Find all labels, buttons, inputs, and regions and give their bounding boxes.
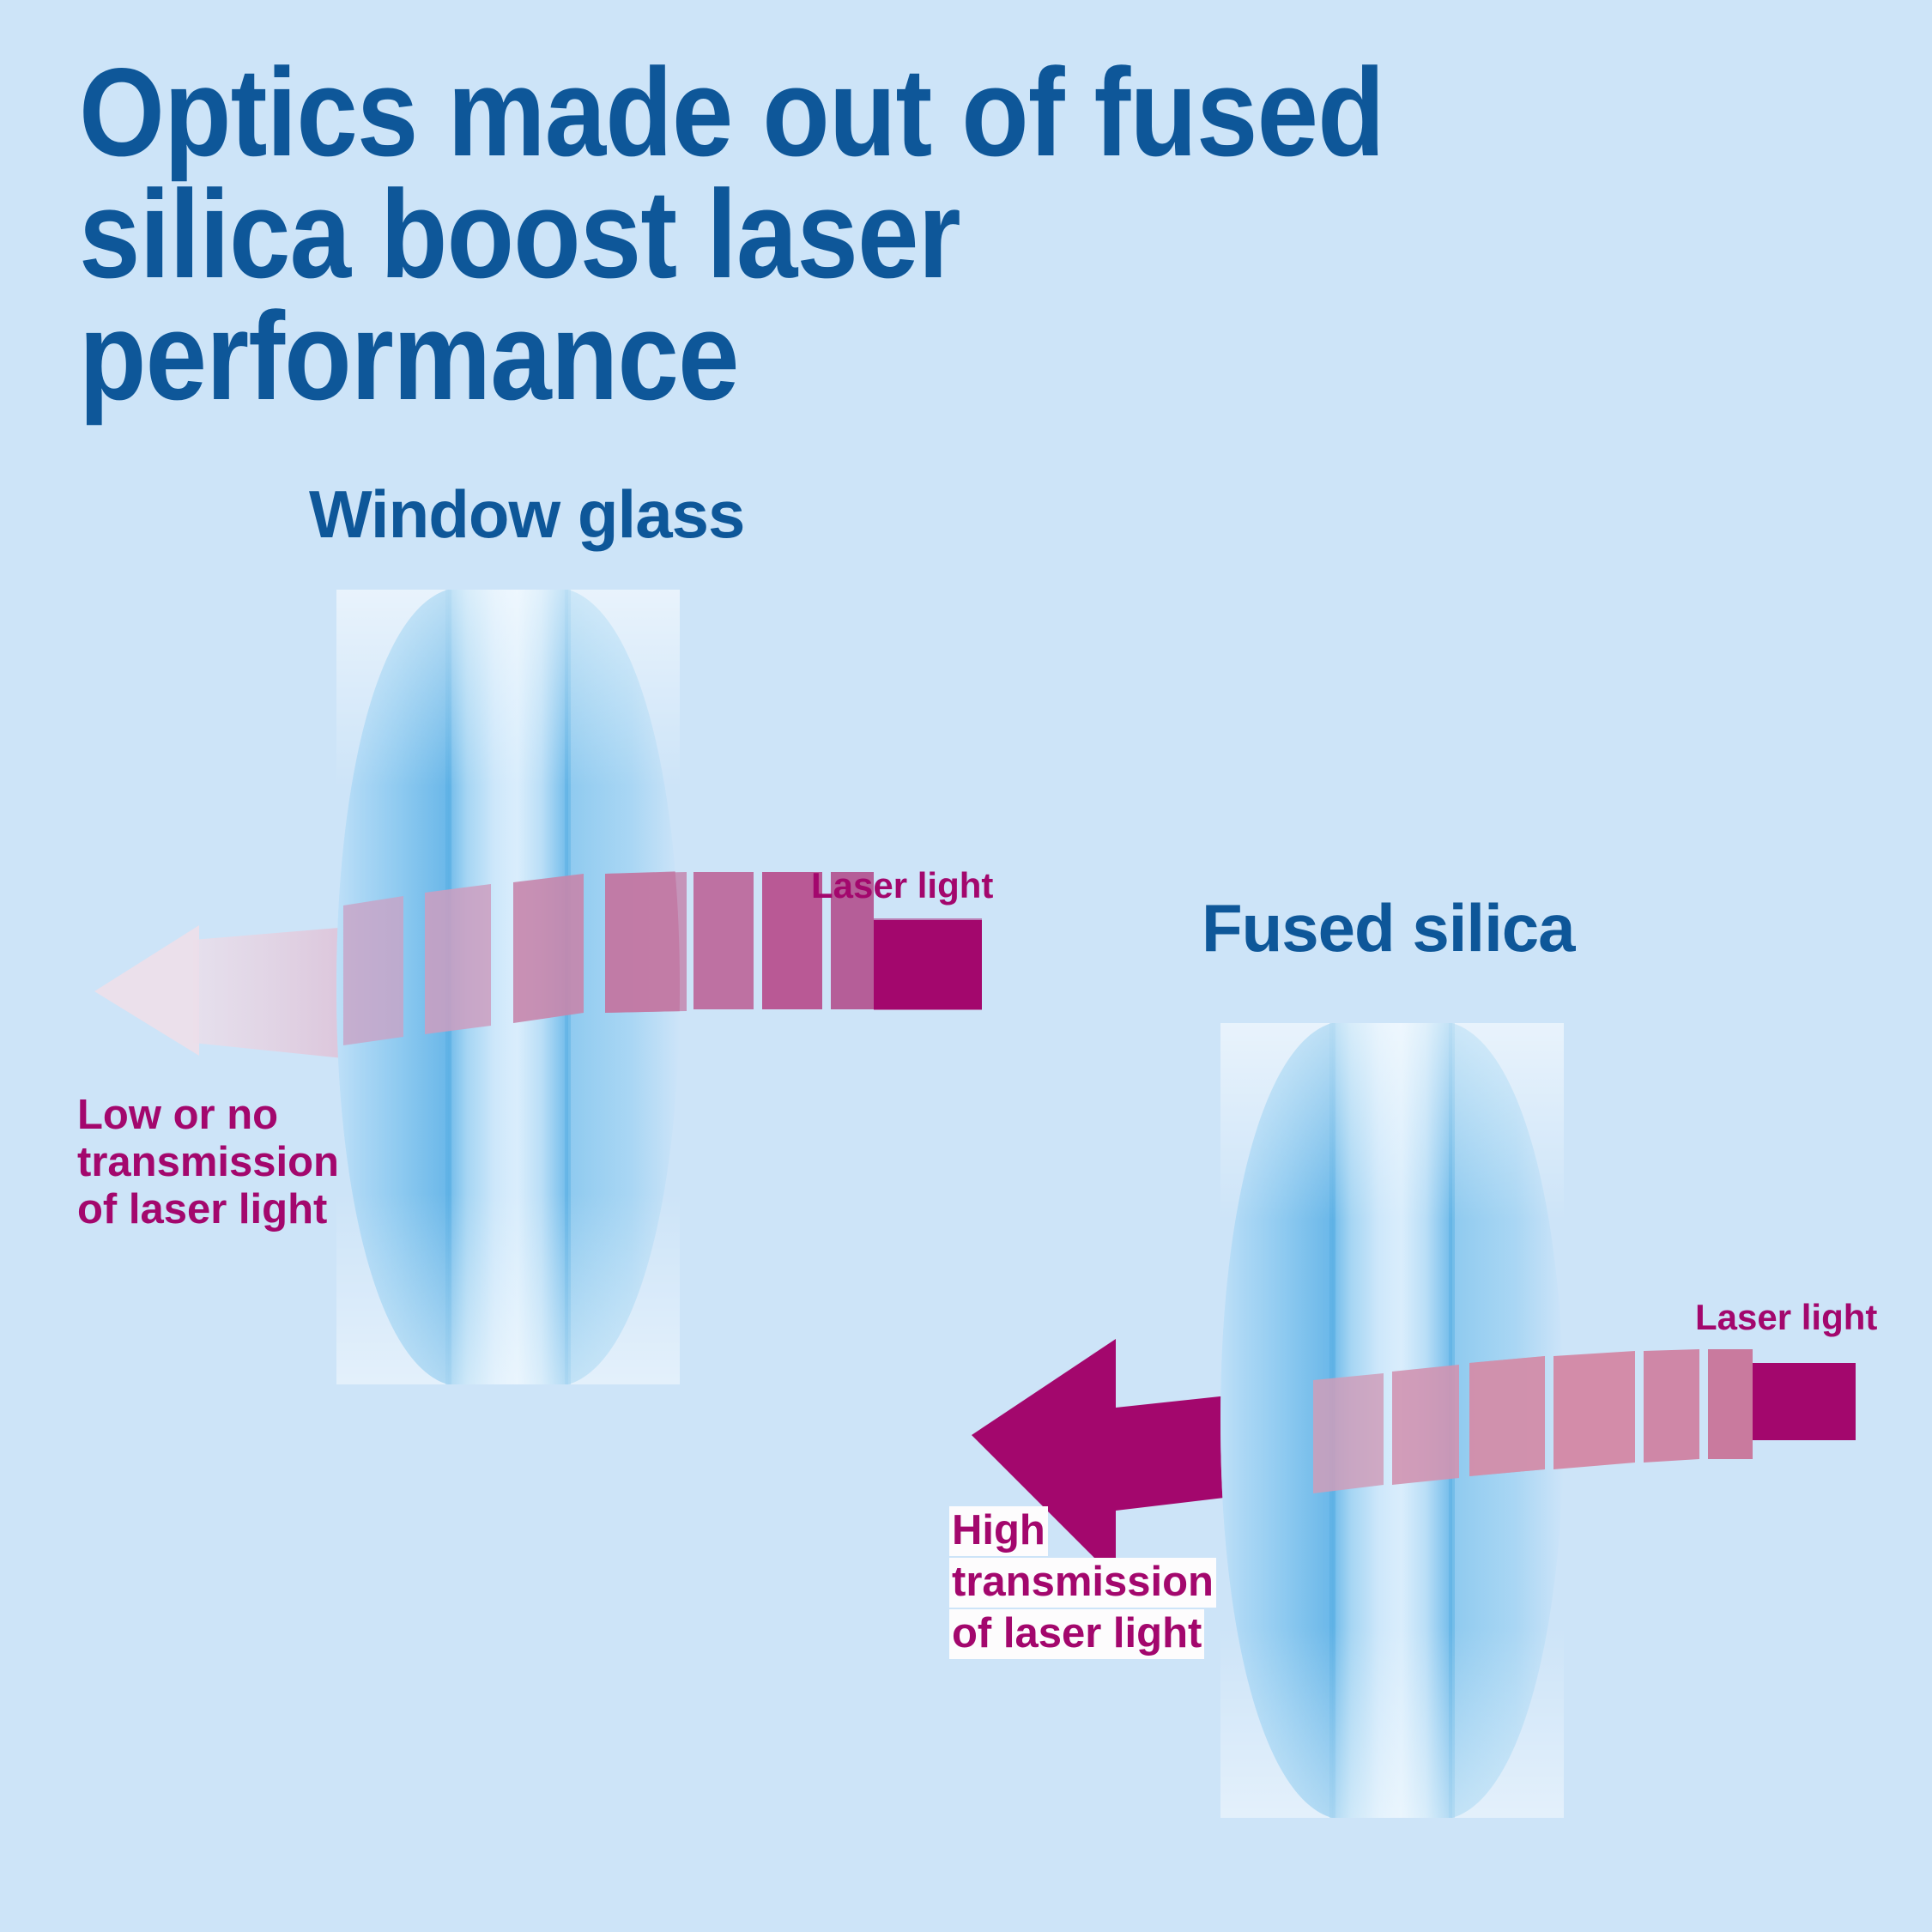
- transmission-note-line: of laser light: [949, 1609, 1215, 1661]
- laser-light-label-fused-silica: Laser light: [1695, 1299, 1877, 1336]
- transmission-note-line: transmission: [77, 1139, 360, 1186]
- transmission-note-line: High: [949, 1506, 1215, 1558]
- laser-beam-entering-fused-silica: [1469, 1349, 1856, 1476]
- transmission-note-text: High: [949, 1506, 1048, 1556]
- transmission-note-text: transmission: [949, 1558, 1216, 1608]
- fused-silica-diagram: [972, 1023, 1856, 1818]
- infographic-canvas: Optics made out of fused silica boost la…: [0, 0, 1932, 1932]
- panel-heading-window-glass: Window glass: [309, 479, 744, 549]
- transmission-note-line: transmission: [949, 1558, 1215, 1609]
- transmission-note-text: of laser light: [77, 1186, 327, 1232]
- transmission-note-text: of laser light: [949, 1609, 1204, 1659]
- transmission-note-text: Low or no: [77, 1092, 278, 1138]
- transmission-note-line: of laser light: [77, 1186, 360, 1233]
- window-glass-diagram: [94, 590, 982, 1384]
- panel-heading-fused-silica: Fused silica: [1202, 893, 1575, 963]
- laser-beam-solid-window: [874, 920, 982, 1009]
- laser-light-label-window-glass: Laser light: [811, 867, 993, 905]
- transmission-note-fused-silica: Hightransmissionof laser light: [949, 1506, 1215, 1661]
- page-title: Optics made out of fused silica boost la…: [79, 51, 1514, 417]
- transmission-note-line: Low or no: [77, 1092, 360, 1139]
- transmission-note-window-glass: Low or notransmissionof laser light: [77, 1092, 360, 1233]
- transmission-note-text: transmission: [77, 1139, 339, 1185]
